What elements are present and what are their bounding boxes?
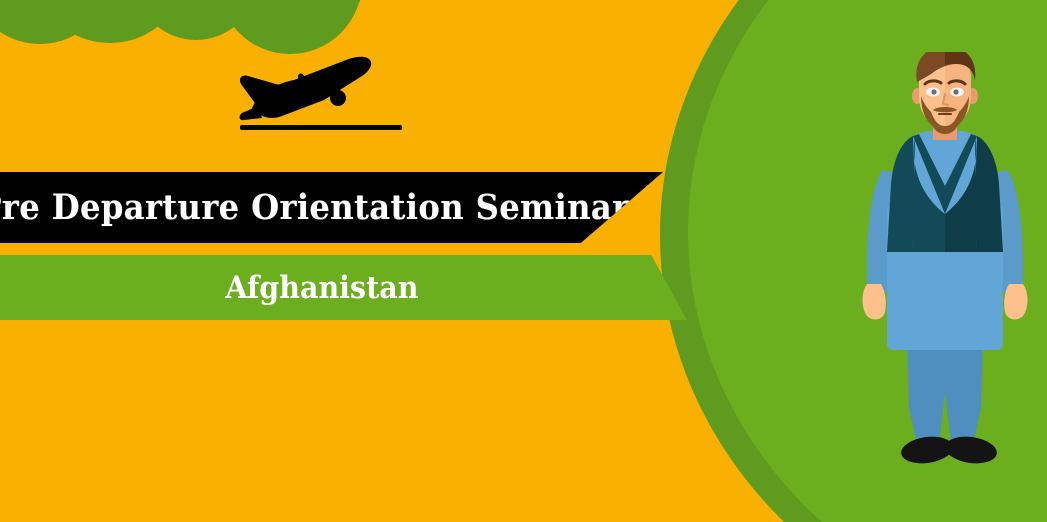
runway-line-icon — [240, 125, 402, 130]
title-bar: Pre Departure Orientation Seminar — [0, 172, 663, 243]
page-title: Pre Departure Orientation Seminar — [0, 187, 630, 228]
country-bar: Afghanistan — [0, 255, 687, 320]
airplane-graphic-group — [228, 40, 408, 140]
seminar-banner: Pre Departure Orientation Seminar Afghan… — [0, 0, 1047, 522]
trousers — [907, 340, 983, 444]
country-label: Afghanistan — [225, 270, 418, 306]
airplane-takeoff-icon — [228, 40, 408, 130]
head — [912, 52, 978, 134]
shoes — [899, 434, 998, 467]
afghan-man-illustration — [855, 52, 1035, 472]
